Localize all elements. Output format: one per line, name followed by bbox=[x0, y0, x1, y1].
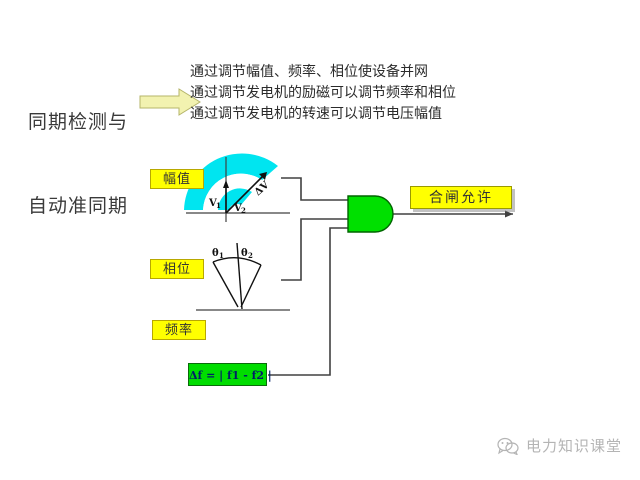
bullet-line-1: 通过调节幅值、频率、相位使设备并网 bbox=[190, 62, 456, 83]
title-line-2: 自动准同期 bbox=[28, 192, 128, 220]
phase-label-theta2-sub: 2 bbox=[248, 251, 253, 260]
phase-leg-right bbox=[241, 265, 261, 307]
wechat-icon bbox=[497, 437, 519, 455]
vector-label-v1-sub: 1 bbox=[216, 201, 221, 210]
phase-arc bbox=[213, 258, 261, 265]
wire-frequency bbox=[268, 228, 348, 375]
vector-v1-arrowhead-icon bbox=[223, 180, 229, 188]
and-gate bbox=[348, 196, 393, 232]
bullet-list: 通过调节幅值、频率、相位使设备并网 通过调节发电机的励磁可以调节频率和相位 通过… bbox=[190, 62, 456, 125]
vector-label-v2-sub: 2 bbox=[241, 206, 246, 215]
phase-label-theta2: θ bbox=[241, 248, 248, 259]
phase-label-theta1: θ bbox=[212, 248, 219, 259]
label-phase[interactable]: 相位 bbox=[150, 259, 204, 279]
bullet-line-3: 通过调节发电机的转速可以调节电压幅值 bbox=[190, 104, 456, 125]
phase-label-theta1-sub: 1 bbox=[219, 251, 224, 260]
watermark-text: 电力知识课堂 bbox=[526, 435, 622, 456]
gauge-arc-gap bbox=[203, 174, 262, 210]
slide-canvas: 同期检测与 自动准同期 通过调节幅值、频率、相位使设备并网 通过调节发电机的励磁… bbox=[0, 0, 640, 480]
gauge-arc-inner bbox=[218, 188, 252, 210]
vector-label-dv: ΔV bbox=[253, 180, 272, 199]
wire-amplitude bbox=[281, 178, 348, 200]
output-arrowhead-icon bbox=[505, 211, 513, 218]
wire-phase bbox=[281, 219, 348, 280]
vector-label-v2: V bbox=[233, 203, 242, 214]
phase-leg-left bbox=[213, 262, 238, 307]
bullet-line-2: 通过调节发电机的励磁可以调节频率和相位 bbox=[190, 83, 456, 104]
label-amplitude[interactable]: 幅值 bbox=[150, 169, 204, 189]
label-frequency[interactable]: 频率 bbox=[152, 320, 206, 340]
watermark: 电力知识课堂 bbox=[497, 435, 622, 456]
formula-delta-f: Δf = | f1 - f2 | bbox=[188, 363, 267, 386]
title-line-1: 同期检测与 bbox=[28, 108, 128, 136]
vector-label-v1: V bbox=[208, 198, 217, 209]
label-close-permit[interactable]: 合闸允许 bbox=[410, 186, 512, 209]
phase-axis-center bbox=[237, 243, 242, 309]
vector-v2-arrowhead-icon bbox=[259, 172, 267, 180]
vector-v2 bbox=[226, 175, 264, 213]
page-title: 同期检测与 自动准同期 bbox=[28, 52, 128, 276]
